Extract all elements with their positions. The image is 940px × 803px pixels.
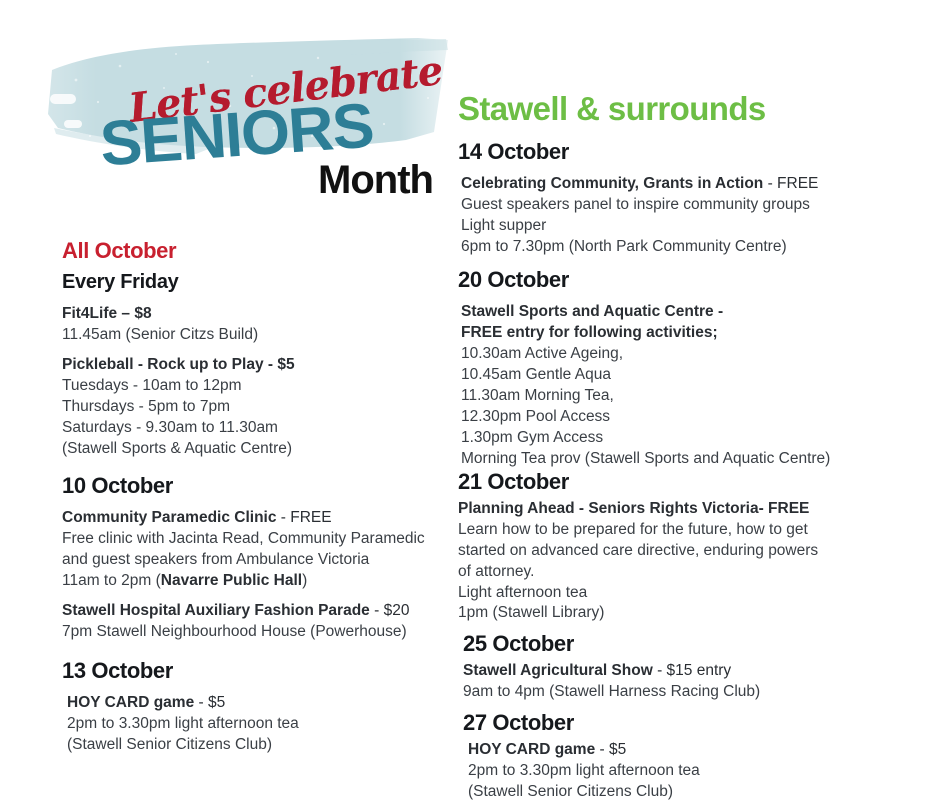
- event-line: 2pm to 3.30pm light afternoon tea: [468, 761, 908, 782]
- all-october-heading: All October: [62, 238, 454, 263]
- date-heading: 21 October: [458, 469, 908, 495]
- event-title: Stawell Agricultural Show - $15 entry: [463, 661, 908, 682]
- section-14-october: 14 October Celebrating Community, Grants…: [458, 139, 908, 258]
- region-heading: Stawell & surrounds: [458, 92, 908, 127]
- date-heading: 27 October: [463, 710, 908, 736]
- venue-pre: 11am to 2pm (: [62, 572, 161, 589]
- event-line: 2pm to 3.30pm light afternoon tea: [67, 714, 454, 735]
- event-line: Thursdays - 5pm to 7pm: [62, 397, 454, 418]
- event-line: started on advanced care directive, endu…: [458, 541, 908, 562]
- event-title-main: Planning Ahead - Seniors Rights Victoria: [458, 500, 759, 517]
- event-line: 11.45am (Senior Citzs Build): [62, 325, 454, 346]
- section-13-october: 13 October HOY CARD game - $5 2pm to 3.3…: [62, 658, 454, 756]
- venue-post: ): [302, 572, 307, 589]
- section-27-october: 27 October HOY CARD game - $5 2pm to 3.3…: [458, 710, 908, 803]
- event-sports-aquatic-centre: Stawell Sports and Aquatic Centre - FREE…: [458, 302, 908, 469]
- event-title: Community Paramedic Clinic - FREE: [62, 508, 454, 529]
- event-line: 6pm to 7.30pm (North Park Community Cent…: [461, 237, 908, 258]
- seniors-month-logo: Let's celebrate SENIORS Month: [40, 28, 460, 188]
- event-title: Fit4Life – $8: [62, 304, 454, 325]
- section-20-october: 20 October Stawell Sports and Aquatic Ce…: [458, 267, 908, 470]
- event-line: Learn how to be prepared for the future,…: [458, 520, 908, 541]
- event-title-main: Celebrating Community, Grants in Action: [461, 175, 763, 192]
- event-venue-line: 11am to 2pm (Navarre Public Hall): [62, 571, 454, 592]
- event-pickleball: Pickleball - Rock up to Play - $5 Tuesda…: [62, 355, 454, 460]
- event-title-main: Stawell Agricultural Show: [463, 662, 653, 679]
- event-line: (Stawell Sports & Aquatic Centre): [62, 439, 454, 460]
- event-hoy-card-game-13: HOY CARD game - $5 2pm to 3.30pm light a…: [62, 693, 454, 756]
- event-fashion-parade: Stawell Hospital Auxiliary Fashion Parad…: [62, 601, 454, 643]
- event-title-main: HOY CARD game: [468, 741, 595, 758]
- event-line: and guest speakers from Ambulance Victor…: [62, 550, 454, 571]
- event-title-suffix: - FREE: [763, 175, 818, 192]
- date-heading: 13 October: [62, 658, 454, 684]
- section-25-october: 25 October Stawell Agricultural Show - $…: [458, 631, 908, 702]
- event-line: Saturdays - 9.30am to 11.30am: [62, 418, 454, 439]
- event-line: Light supper: [461, 216, 908, 237]
- event-title-main: Stawell Sports and Aquatic Centre: [461, 303, 714, 320]
- event-line: Tuesdays - 10am to 12pm: [62, 376, 454, 397]
- event-agricultural-show: Stawell Agricultural Show - $15 entry 9a…: [463, 661, 908, 703]
- section-21-october: 21 October Planning Ahead - Seniors Righ…: [458, 469, 908, 624]
- left-column-all-october: All October Every Friday Fit4Life – $8 1…: [62, 238, 454, 756]
- event-line: 10.30am Active Ageing,: [461, 344, 908, 365]
- date-heading: 20 October: [458, 267, 908, 293]
- event-title: HOY CARD game - $5: [67, 693, 454, 714]
- event-line: 1pm (Stawell Library): [458, 603, 908, 624]
- event-title-main: HOY CARD game: [67, 694, 194, 711]
- event-title: Stawell Sports and Aquatic Centre -: [461, 302, 908, 323]
- date-heading: 10 October: [62, 473, 454, 499]
- event-line: 11.30am Morning Tea,: [461, 386, 908, 407]
- event-title: HOY CARD game - $5: [468, 740, 908, 761]
- event-celebrating-community: Celebrating Community, Grants in Action …: [458, 174, 908, 258]
- event-title-main: Stawell Hospital Auxiliary Fashion Parad…: [62, 602, 370, 619]
- event-line: Light afternoon tea: [458, 583, 908, 604]
- section-heading: Every Friday: [62, 270, 454, 295]
- event-line: (Stawell Senior Citizens Club): [67, 735, 454, 756]
- event-title: Stawell Hospital Auxiliary Fashion Parad…: [62, 601, 454, 622]
- date-heading: 25 October: [463, 631, 908, 657]
- date-heading: 14 October: [458, 139, 908, 165]
- event-line: Guest speakers panel to inspire communit…: [461, 195, 908, 216]
- event-line: 7pm Stawell Neighbourhood House (Powerho…: [62, 622, 454, 643]
- event-line: Free clinic with Jacinta Read, Community…: [62, 529, 454, 550]
- event-community-paramedic-clinic: Community Paramedic Clinic - FREE Free c…: [62, 508, 454, 592]
- event-title: Planning Ahead - Seniors Rights Victoria…: [458, 499, 908, 520]
- event-planning-ahead: Planning Ahead - Seniors Rights Victoria…: [458, 499, 908, 625]
- event-line: 1.30pm Gym Access: [461, 428, 908, 449]
- event-fit4life: Fit4Life – $8 11.45am (Senior Citzs Buil…: [62, 304, 454, 346]
- event-title-suffix: - $5: [595, 741, 626, 758]
- section-10-october: 10 October Community Paramedic Clinic - …: [62, 473, 454, 643]
- event-title-suffix: - $15 entry: [653, 662, 731, 679]
- event-title-suffix: - FREE: [759, 500, 810, 517]
- event-title-suffix: - FREE: [276, 509, 331, 526]
- event-line: (Stawell Senior Citizens Club): [468, 782, 908, 803]
- event-title: Pickleball - Rock up to Play - $5: [62, 355, 454, 376]
- logo-month-word: Month: [318, 160, 433, 200]
- event-title-line2: FREE entry for following activities;: [461, 323, 908, 344]
- event-line: 12.30pm Pool Access: [461, 407, 908, 428]
- event-line: Morning Tea prov (Stawell Sports and Aqu…: [461, 449, 908, 470]
- event-line: of attorney.: [458, 562, 908, 583]
- venue-name: Navarre Public Hall: [161, 572, 302, 589]
- event-title: Celebrating Community, Grants in Action …: [461, 174, 908, 195]
- event-hoy-card-game-27: HOY CARD game - $5 2pm to 3.30pm light a…: [463, 740, 908, 803]
- event-title-suffix: -: [714, 303, 723, 320]
- event-line: 10.45am Gentle Aqua: [461, 365, 908, 386]
- right-column-stawell-surrounds: Stawell & surrounds 14 October Celebrati…: [458, 92, 908, 803]
- event-title-main: Community Paramedic Clinic: [62, 509, 276, 526]
- event-line: 9am to 4pm (Stawell Harness Racing Club): [463, 682, 908, 703]
- event-title-suffix: - $5: [194, 694, 225, 711]
- section-every-friday: Every Friday Fit4Life – $8 11.45am (Seni…: [62, 270, 454, 459]
- event-title-suffix: - $20: [370, 602, 410, 619]
